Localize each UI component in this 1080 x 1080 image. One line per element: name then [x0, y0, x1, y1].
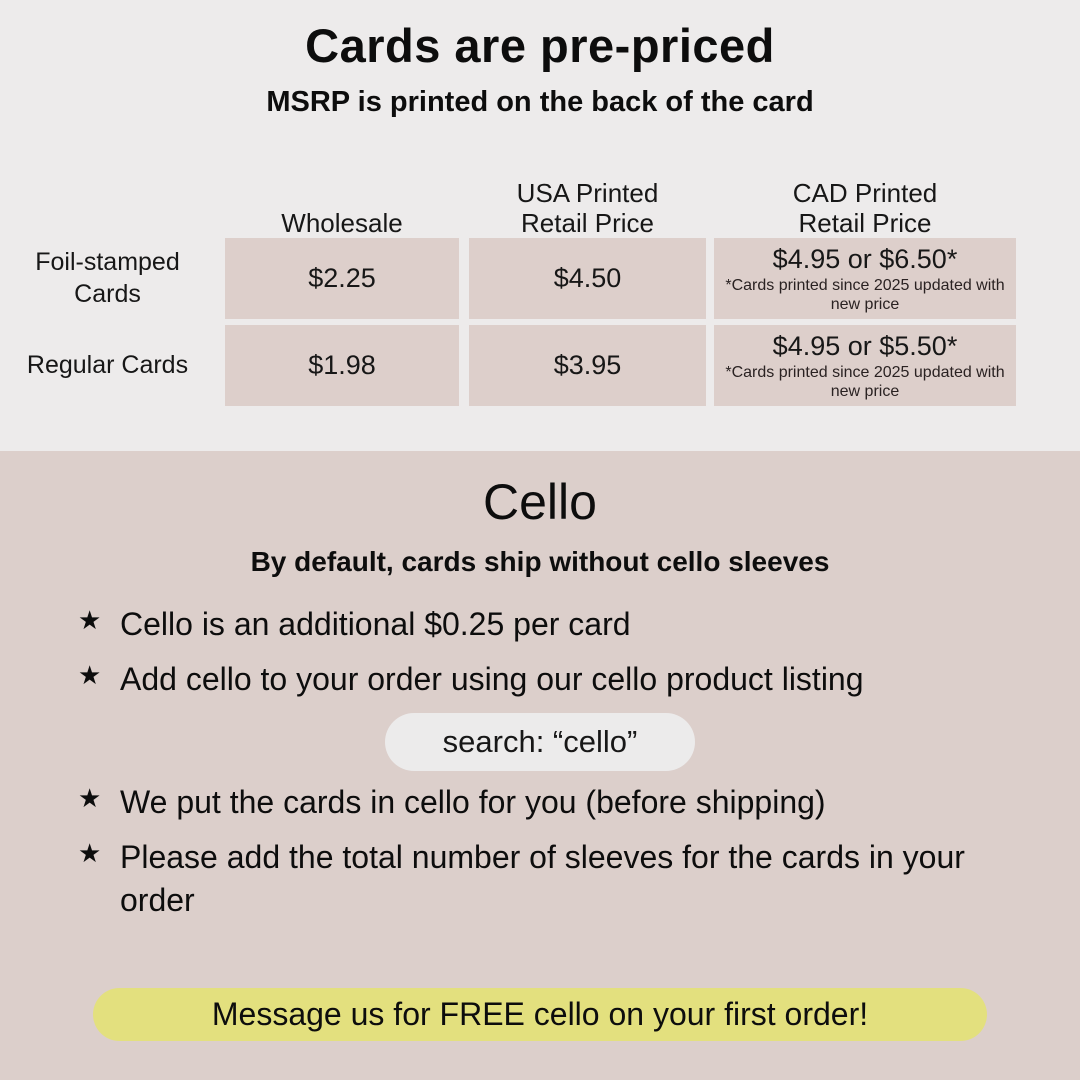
- page-subtitle: MSRP is printed on the back of the card: [0, 72, 1080, 119]
- column-header-usa-line1: USA Printed: [469, 179, 706, 208]
- search-hint-row: search: “cello”: [0, 713, 1080, 771]
- price-footnote: *Cards printed since 2025 updated with n…: [714, 364, 1016, 401]
- cell-regular-cad-retail: $4.95 or $5.50* *Cards printed since 202…: [714, 325, 1016, 406]
- column-header-usa-line2: Retail Price: [469, 209, 706, 238]
- list-item: ★ We put the cards in cello for you (bef…: [0, 781, 1080, 824]
- list-item: ★ Add cello to your order using our cell…: [0, 658, 1080, 701]
- star-icon: ★: [78, 836, 120, 871]
- cell-foil-wholesale: $2.25: [225, 238, 459, 319]
- free-cello-offer-banner[interactable]: Message us for FREE cello on your first …: [93, 988, 987, 1041]
- column-header-usa-retail: USA Printed Retail Price: [469, 179, 706, 238]
- price-footnote: *Cards printed since 2025 updated with n…: [714, 277, 1016, 314]
- star-icon: ★: [78, 781, 120, 816]
- cell-regular-usa-retail: $3.95: [469, 325, 706, 406]
- column-header-cad-line1: CAD Printed: [714, 179, 1016, 208]
- pricing-table-header-row: Wholesale USA Printed Retail Price CAD P…: [0, 160, 1080, 238]
- cell-regular-wholesale: $1.98: [225, 325, 459, 406]
- pricing-section: Cards are pre-priced MSRP is printed on …: [0, 0, 1080, 451]
- row-label-foil-stamped-cards: Foil-stamped Cards: [0, 238, 215, 319]
- cta-container: Message us for FREE cello on your first …: [0, 988, 1080, 1041]
- cello-title: Cello: [0, 451, 1080, 530]
- cello-bullet-list: ★ Cello is an additional $0.25 per card …: [0, 603, 1080, 934]
- infographic-page: Cards are pre-priced MSRP is printed on …: [0, 0, 1080, 1080]
- list-item-label: Please add the total number of sleeves f…: [120, 836, 1030, 922]
- list-item: ★ Please add the total number of sleeves…: [0, 836, 1080, 922]
- list-item: ★ Cello is an additional $0.25 per card: [0, 603, 1080, 646]
- row-label-regular-cards: Regular Cards: [0, 325, 215, 406]
- cello-section: Cello By default, cards ship without cel…: [0, 451, 1080, 1080]
- price-value: $3.95: [554, 349, 622, 381]
- price-value: $4.95 or $5.50*: [773, 330, 958, 362]
- page-title: Cards are pre-priced: [0, 0, 1080, 72]
- star-icon: ★: [78, 658, 120, 693]
- pricing-table: Wholesale USA Printed Retail Price CAD P…: [0, 160, 1080, 412]
- price-value: $2.25: [308, 262, 376, 294]
- table-row: Regular Cards $1.98 $3.95 $4.95 or $5.50…: [0, 325, 1080, 406]
- search-term-pill: search: “cello”: [385, 713, 696, 771]
- price-value: $4.95 or $6.50*: [773, 243, 958, 275]
- column-header-wholesale: Wholesale: [225, 209, 459, 238]
- star-icon: ★: [78, 603, 120, 638]
- list-item-label: Cello is an additional $0.25 per card: [120, 603, 631, 646]
- table-row: Foil-stamped Cards $2.25 $4.50 $4.95 or …: [0, 238, 1080, 319]
- price-value: $4.50: [554, 262, 622, 294]
- price-value: $1.98: [308, 349, 376, 381]
- column-header-cad-retail: CAD Printed Retail Price: [714, 179, 1016, 238]
- row-label-regular-line1: Regular Cards: [27, 350, 188, 381]
- cello-subtitle: By default, cards ship without cello sle…: [0, 530, 1080, 578]
- list-item-label: Add cello to your order using our cello …: [120, 658, 864, 701]
- list-item-label: We put the cards in cello for you (befor…: [120, 781, 826, 824]
- column-header-cad-line2: Retail Price: [714, 209, 1016, 238]
- row-label-foil-line2: Cards: [35, 279, 180, 310]
- cell-foil-usa-retail: $4.50: [469, 238, 706, 319]
- row-label-foil-line1: Foil-stamped: [35, 247, 180, 278]
- cell-foil-cad-retail: $4.95 or $6.50* *Cards printed since 202…: [714, 238, 1016, 319]
